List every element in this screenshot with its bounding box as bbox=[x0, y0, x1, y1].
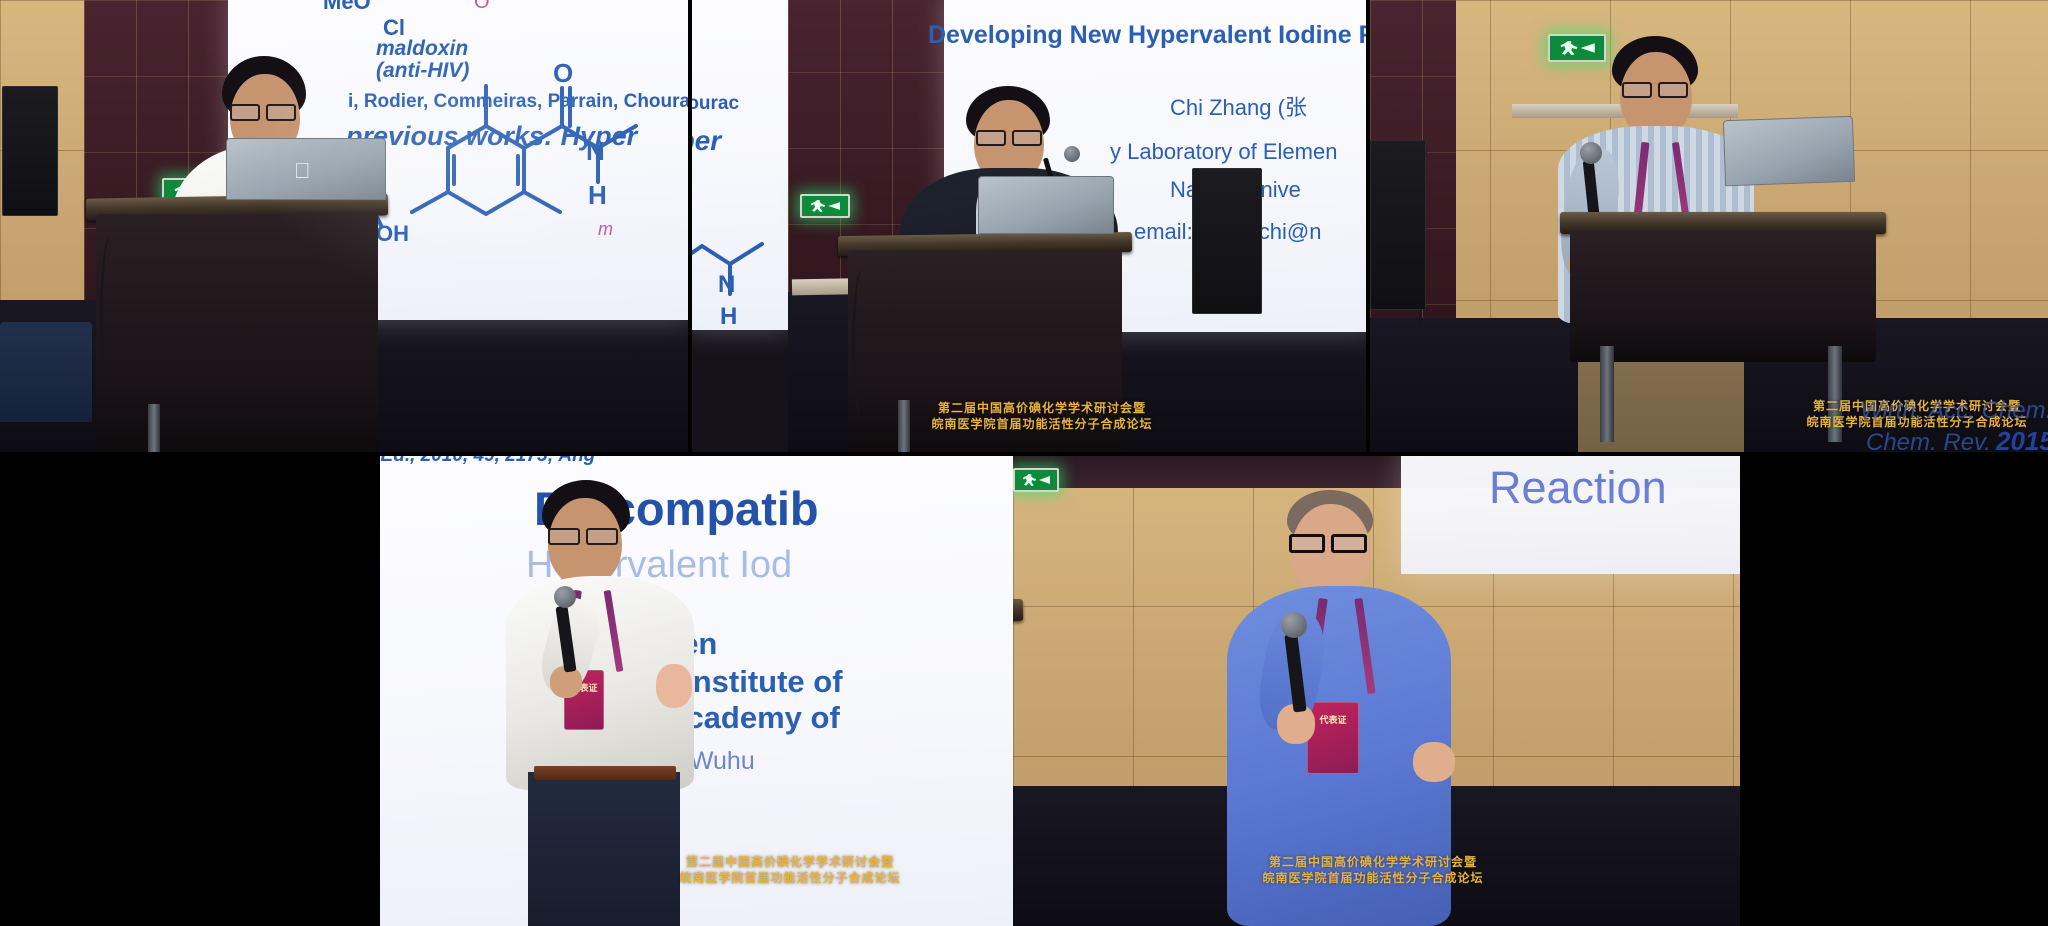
glasses-icon-right bbox=[266, 104, 296, 121]
panel-bottom-right: Reaction 代表证 bbox=[1013, 456, 1740, 926]
glasses-icon bbox=[548, 528, 580, 545]
exit-sign-panel2 bbox=[800, 194, 850, 218]
microphone-head bbox=[1580, 142, 1602, 164]
panel-top-right: 代表证 第二届中国高价碘化学学术研讨会暨 皖南医学院首届功能活性分子合成论坛 W… bbox=[1370, 0, 2048, 456]
apple-logo-icon:  bbox=[294, 160, 311, 182]
tile-gap-vertical-1 bbox=[688, 0, 692, 456]
laptop-screen-panel2 bbox=[978, 176, 1114, 234]
chair-panel1 bbox=[0, 322, 92, 422]
tile-gap-bottom-right-edge bbox=[1740, 456, 2048, 926]
exit-sign-panel5 bbox=[1013, 468, 1059, 492]
photo-collage: MeO Cl maldoxin (anti-HIV) i, Rodier, Co… bbox=[0, 0, 2048, 926]
watermark-line1: 第二届中国高价碘化学学术研讨会暨 bbox=[1133, 854, 1613, 870]
panel-top-mid: Chourac yper N H Developing New Hyperval… bbox=[692, 0, 1366, 456]
slide-presenter-panel2: Chi Zhang (张 bbox=[1170, 96, 1307, 119]
trousers bbox=[528, 772, 680, 926]
hand-gesture bbox=[656, 664, 692, 708]
microphone-head bbox=[1281, 612, 1307, 638]
running-man-icon bbox=[810, 200, 827, 212]
hand-gesture bbox=[1413, 742, 1455, 782]
slide-top-citation-panel4: , Ed., 2010, 49, 2175; Ang bbox=[380, 456, 595, 466]
exit-arrow-icon bbox=[828, 202, 840, 210]
microphone-head bbox=[1064, 146, 1080, 162]
slide-title-panel5: Reaction bbox=[1489, 464, 1667, 511]
podium-body-panel1 bbox=[96, 214, 378, 456]
slide-left-citation-panel2: Chourac bbox=[692, 94, 739, 114]
slide-left-heading-panel2: yper bbox=[692, 126, 721, 155]
glasses-icon bbox=[230, 104, 260, 121]
belt bbox=[534, 766, 676, 780]
svg-text:O: O bbox=[553, 58, 573, 88]
podium-leg-left-panel3 bbox=[1600, 346, 1614, 442]
slide-label-cl: Cl bbox=[383, 16, 405, 39]
tile-gap-vertical-2 bbox=[1366, 0, 1370, 456]
watermark-panel4: 第二届中国高价碘化学学术研讨会暨 皖南医学院首届功能活性分子合成论坛 bbox=[590, 854, 990, 886]
watermark-line2: 皖南医学院首届功能活性分子合成论坛 bbox=[1133, 870, 1613, 886]
podium-body-panel3 bbox=[1570, 230, 1876, 362]
svg-text:N: N bbox=[586, 136, 605, 166]
slide-label-meo: MeO bbox=[323, 0, 371, 13]
glasses-icon bbox=[1622, 82, 1652, 98]
slide-citation1-panel3: Wirth, Acc. Chem. bbox=[1860, 398, 2048, 423]
cable-panel2 bbox=[852, 270, 872, 420]
audio-speaker-panel1 bbox=[2, 86, 58, 216]
watermark-line2: 皖南医学院首届功能活性分子合成论坛 bbox=[590, 870, 990, 886]
watermark-panel5: 第二届中国高价碘化学学术研讨会暨 皖南医学院首届功能活性分子合成论坛 bbox=[1133, 854, 1613, 886]
name-badge-panel5: 代表证 bbox=[1307, 702, 1359, 774]
slide-label-o-panel1: O bbox=[474, 0, 490, 13]
badge-label: 代表证 bbox=[1308, 713, 1358, 726]
audio-speaker-panel3 bbox=[1370, 140, 1426, 310]
glasses-icon-right bbox=[1658, 82, 1688, 98]
glasses-icon-right bbox=[1012, 130, 1042, 146]
exit-arrow-icon bbox=[1039, 476, 1050, 484]
tile-gap-bottom-left-edge bbox=[0, 456, 380, 926]
watermark-line1: 第二届中国高价碘化学学术研讨会暨 bbox=[842, 400, 1242, 416]
glasses-icon bbox=[1289, 534, 1325, 553]
glasses-icon-right bbox=[586, 528, 618, 545]
panel-top-left: MeO Cl maldoxin (anti-HIV) i, Rodier, Co… bbox=[0, 0, 688, 456]
running-man-icon bbox=[1022, 474, 1037, 486]
podium-leg-panel1 bbox=[148, 404, 160, 456]
svg-text:N: N bbox=[718, 271, 735, 298]
watermark-panel2: 第二届中国高价碘化学学术研讨会暨 皖南医学院首届功能活性分子合成论坛 bbox=[842, 400, 1242, 432]
microphone-head bbox=[554, 586, 576, 608]
svg-text:H: H bbox=[588, 180, 607, 210]
chem-structure-panel2-left: N H bbox=[692, 220, 786, 340]
slide-title-panel2: Developing New Hypervalent Iodine Reagen… bbox=[928, 22, 1366, 48]
laptop-screen-panel3 bbox=[1723, 116, 1855, 186]
glasses-icon-right bbox=[1331, 534, 1367, 553]
watermark-line2: 皖南医学院首届功能活性分子合成论坛 bbox=[842, 416, 1242, 432]
svg-text:H: H bbox=[720, 303, 737, 330]
panel-bottom-left: , Ed., 2010, 49, 2175; Ang Biocompatib H… bbox=[380, 456, 1013, 926]
glasses-icon bbox=[976, 130, 1006, 146]
audio-speaker-panel2 bbox=[1192, 168, 1262, 314]
cable-panel1 bbox=[100, 234, 122, 394]
watermark-line1: 第二届中国高价碘化学学术研讨会暨 bbox=[590, 854, 990, 870]
